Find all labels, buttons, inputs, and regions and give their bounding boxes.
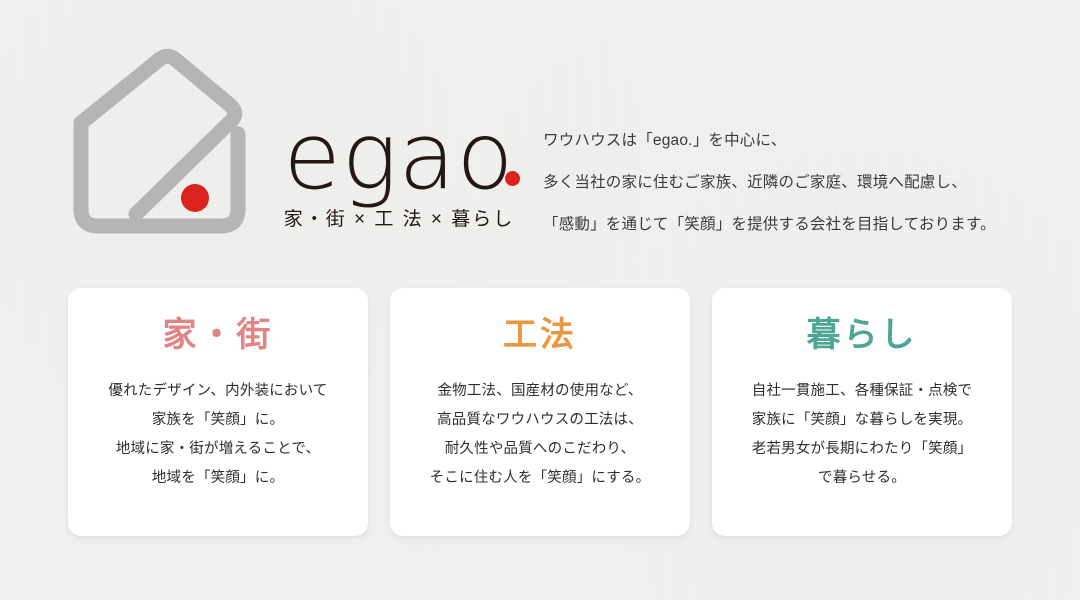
card-body-line: 金物工法、国産材の使用など、 [390,377,690,406]
card-heading-house-town: 家・街 [68,314,368,357]
card-body-line: 自社一貫施工、各種保証・点検で [712,377,1012,406]
card-body-house-town: 優れたデザイン、内外装において 家族を「笑顔」に。 地域に家・街が増えることで、… [68,377,368,493]
card-body-line: 地域に家・街が増えることで、 [68,435,368,464]
card-body-line: そこに住む人を「笑顔」にする。 [390,464,690,493]
egao-brand-page: egao 家・街 × 工 法 × 暮らし ワウハウスは「egao.」を中心に、 … [0,0,1080,600]
card-body-line: 高品質なワウハウスの工法は、 [390,406,690,435]
intro-line-1: ワウハウスは「egao.」を中心に、 [543,120,1043,162]
card-body-line: 優れたデザイン、内外装において [68,377,368,406]
wordmark-red-dot-icon [505,171,520,186]
feature-cards: 家・街 優れたデザイン、内外装において 家族を「笑顔」に。 地域に家・街が増える… [68,288,1012,536]
header-section: egao 家・街 × 工 法 × 暮らし ワウハウスは「egao.」を中心に、 … [0,0,1080,270]
card-body-line: 老若男女が長期にわたり「笑顔」 [712,435,1012,464]
card-body-line: で暮らせる。 [712,464,1012,493]
card-body-living: 自社一貫施工、各種保証・点検で 家族に「笑顔」な暮らしを実現。 老若男女が長期に… [712,377,1012,493]
card-body-construction-method: 金物工法、国産材の使用など、 高品質なワウハウスの工法は、 耐久性や品質へのこだ… [390,377,690,493]
intro-line-2: 多く当社の家に住むご家族、近隣のご家庭、環境へ配慮し、 [543,162,1043,204]
card-heading-living: 暮らし [712,314,1012,357]
card-body-line: 耐久性や品質へのこだわり、 [390,435,690,464]
wordmark-block: egao 家・街 × 工 法 × 暮らし [274,112,524,231]
brand-lockup: egao 家・街 × 工 法 × 暮らし [68,42,523,242]
feature-card-living[interactable]: 暮らし 自社一貫施工、各種保証・点検で 家族に「笑顔」な暮らしを実現。 老若男女… [712,288,1012,536]
card-body-line: 地域を「笑顔」に。 [68,464,368,493]
intro-paragraph: ワウハウスは「egao.」を中心に、 多く当社の家に住むご家族、近隣のご家庭、環… [543,120,1043,246]
egao-wordmark: egao [284,112,515,200]
card-body-line: 家族を「笑顔」に。 [68,406,368,435]
feature-card-house-town[interactable]: 家・街 優れたデザイン、内外装において 家族を「笑顔」に。 地域に家・街が増える… [68,288,368,536]
feature-card-construction-method[interactable]: 工法 金物工法、国産材の使用など、 高品質なワウハウスの工法は、 耐久性や品質へ… [390,288,690,536]
card-heading-construction-method: 工法 [390,314,690,357]
egao-house-logo-icon [68,46,268,242]
wordmark-text: egao [284,102,515,210]
intro-line-3: 「感動」を通じて「笑顔」を提供する会社を目指しております。 [543,204,1043,246]
card-body-line: 家族に「笑顔」な暮らしを実現。 [712,406,1012,435]
